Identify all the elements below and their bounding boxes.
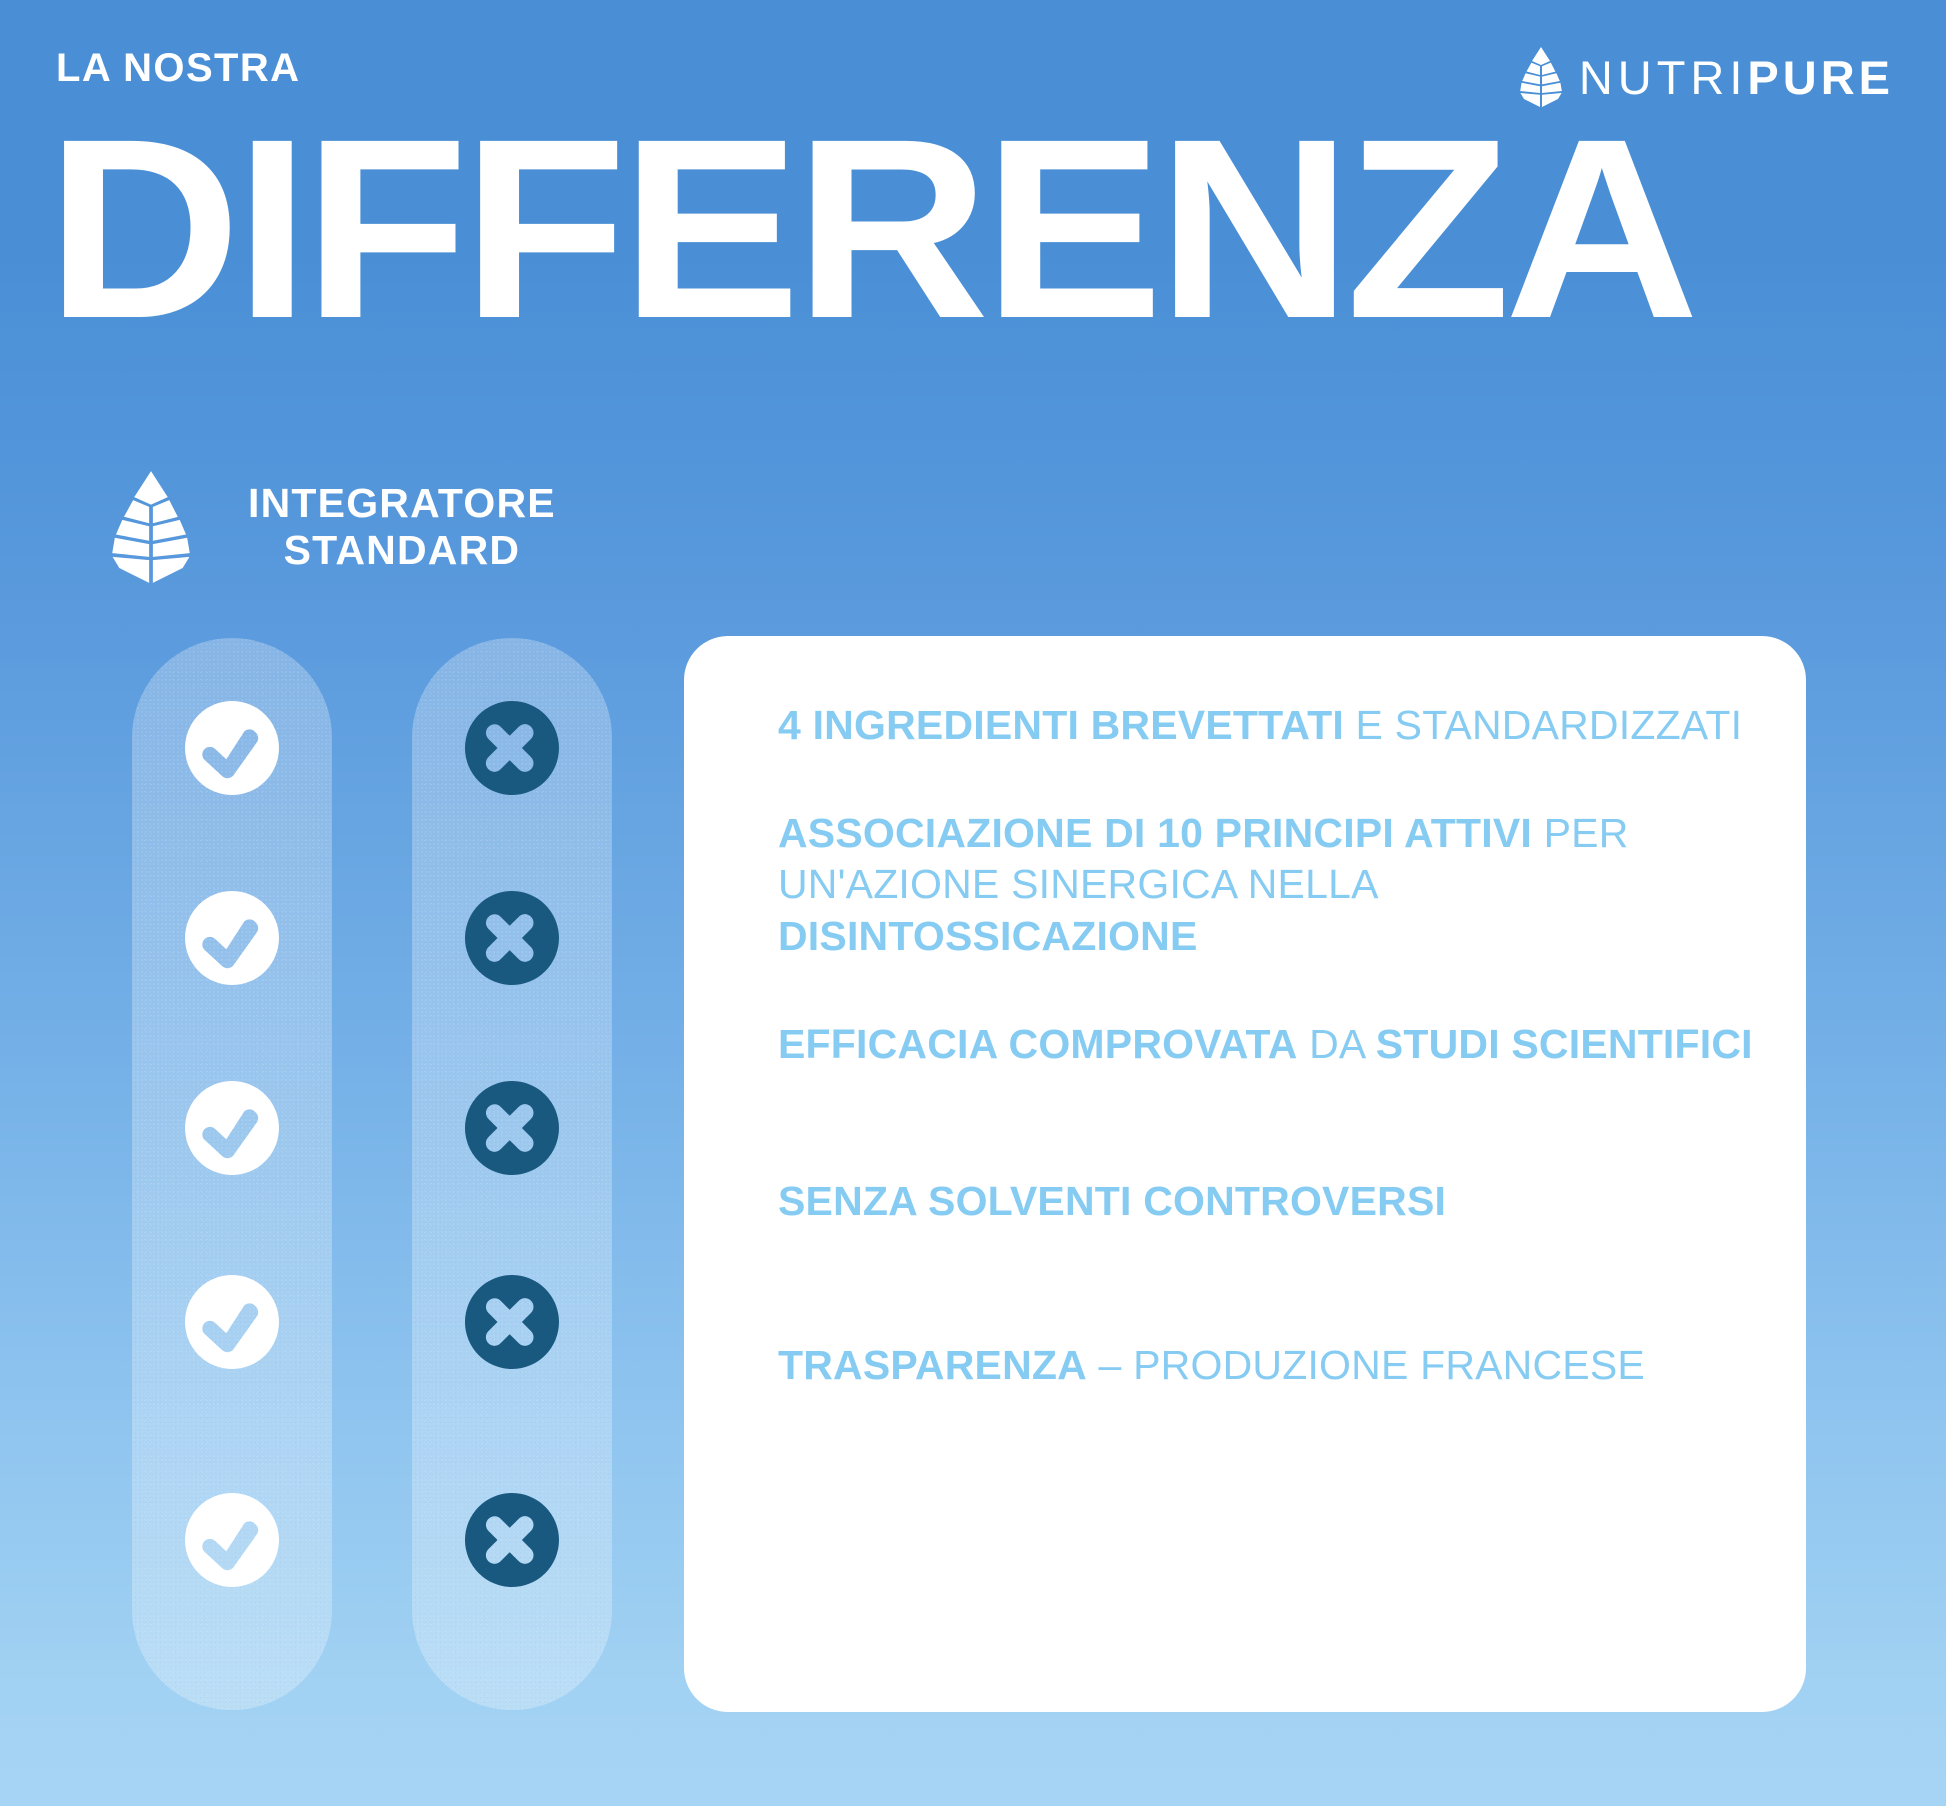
cross-circle-icon: [462, 888, 562, 988]
check-circle-icon: [182, 1490, 282, 1590]
benefits-card: 4 INGREDIENTI BREVETTATI E STANDARDIZZAT…: [684, 636, 1806, 1712]
poster-root: LA NOSTRA NUTRIPURE DIFFERENZA: [0, 0, 1946, 1806]
benefit-bold: 4 INGREDIENTI BREVETTATI: [778, 702, 1344, 748]
benefit-bold-tail: DISINTOSSICAZIONE: [778, 913, 1198, 959]
cross-circle-icon: [462, 1078, 562, 1178]
column-ours: [132, 638, 332, 1710]
check-circle-icon: [182, 1078, 282, 1178]
column-standard: [412, 638, 612, 1710]
benefit-item: SENZA SOLVENTI CONTROVERSI: [778, 1176, 1770, 1228]
benefit-bold: SENZA SOLVENTI CONTROVERSI: [778, 1178, 1446, 1224]
cross-circle-icon: [462, 1490, 562, 1590]
leaf-icon: [110, 468, 192, 586]
cross-circle-icon: [462, 698, 562, 798]
benefit-item: TRASPARENZA – PRODUZIONE FRANCESE: [778, 1340, 1770, 1392]
page-title: DIFFERENZA: [46, 104, 1946, 355]
benefit-bold: TRASPARENZA: [778, 1342, 1087, 1388]
benefit-regular: – PRODUZIONE FRANCESE: [1087, 1342, 1645, 1388]
column-header-standard: INTEGRATORE STANDARD: [248, 480, 556, 574]
benefit-item: 4 INGREDIENTI BREVETTATI E STANDARDIZZAT…: [778, 700, 1770, 752]
benefit-regular: E STANDARDIZZATI: [1344, 702, 1742, 748]
benefit-item: EFFICACIA COMPROVATA DA STUDI SCIENTIFIC…: [778, 1019, 1770, 1071]
kicker-text: LA NOSTRA: [56, 48, 300, 88]
benefit-regular: DA: [1298, 1021, 1376, 1067]
check-circle-icon: [182, 888, 282, 988]
cross-mark-list: [412, 638, 612, 1710]
cross-circle-icon: [462, 1272, 562, 1372]
check-mark-list: [132, 638, 332, 1710]
benefit-bold: ASSOCIAZIONE DI 10 PRINCIPI ATTIVI: [778, 810, 1532, 856]
benefits-list: 4 INGREDIENTI BREVETTATI E STANDARDIZZAT…: [778, 698, 1770, 1666]
check-circle-icon: [182, 698, 282, 798]
column-headers: INTEGRATORE STANDARD: [110, 468, 556, 586]
brand-name-bold: PURE: [1747, 54, 1894, 101]
benefit-bold: EFFICACIA COMPROVATA: [778, 1021, 1298, 1067]
check-circle-icon: [182, 1272, 282, 1372]
benefit-bold-tail: STUDI SCIENTIFICI: [1376, 1021, 1753, 1067]
benefit-item: ASSOCIAZIONE DI 10 PRINCIPI ATTIVI PER U…: [778, 808, 1770, 963]
